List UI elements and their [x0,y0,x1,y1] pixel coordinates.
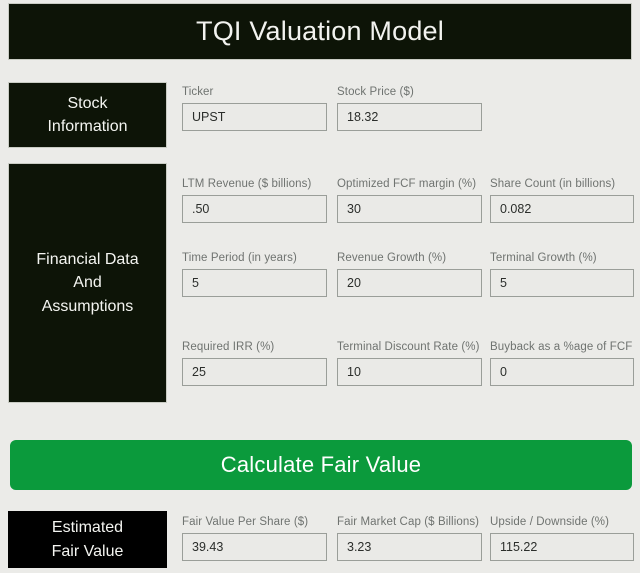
app-title-bar: TQI Valuation Model [8,3,632,60]
field-fair-value-per-share: Fair Value Per Share ($) [182,516,327,561]
field-time-period: Time Period (in years) [182,252,327,297]
field-optimized-fcf-margin-label: Optimized FCF margin (%) [337,178,482,190]
optimized-fcf-margin-input[interactable] [337,195,482,223]
fair-value-per-share-output[interactable] [182,533,327,561]
upside-downside-output[interactable] [490,533,634,561]
section-header-stock-information: StockInformation [8,82,167,148]
field-optimized-fcf-margin: Optimized FCF margin (%) [337,178,482,223]
field-terminal-growth: Terminal Growth (%) [490,252,634,297]
section-header-estimated-fair-value: EstimatedFair Value [8,511,167,568]
field-fair-market-cap-label: Fair Market Cap ($ Billions) [337,516,482,528]
field-ltm-revenue: LTM Revenue ($ billions) [182,178,327,223]
field-terminal-growth-label: Terminal Growth (%) [490,252,634,264]
section-header-stock-information-label: StockInformation [41,92,133,138]
field-upside-downside: Upside / Downside (%) [490,516,634,561]
field-time-period-label: Time Period (in years) [182,252,327,264]
field-terminal-discount-rate-label: Terminal Discount Rate (%) [337,341,482,353]
field-stock-price-label: Stock Price ($) [337,86,482,98]
field-fair-market-cap: Fair Market Cap ($ Billions) [337,516,482,561]
field-fair-value-per-share-label: Fair Value Per Share ($) [182,516,327,528]
field-terminal-discount-rate: Terminal Discount Rate (%) [337,341,482,386]
required-irr-input[interactable] [182,358,327,386]
section-header-financial-data-label: Financial DataAndAssumptions [30,248,144,318]
field-share-count: Share Count (in billions) [490,178,634,223]
field-ticker: Ticker [182,86,327,131]
terminal-discount-rate-input[interactable] [337,358,482,386]
stock-price-input[interactable] [337,103,482,131]
time-period-input[interactable] [182,269,327,297]
buyback-percentage-input[interactable] [490,358,634,386]
terminal-growth-input[interactable] [490,269,634,297]
field-revenue-growth: Revenue Growth (%) [337,252,482,297]
section-header-financial-data: Financial DataAndAssumptions [8,163,167,403]
calculate-fair-value-button[interactable]: Calculate Fair Value [10,440,632,490]
revenue-growth-input[interactable] [337,269,482,297]
field-ltm-revenue-label: LTM Revenue ($ billions) [182,178,327,190]
ticker-input[interactable] [182,103,327,131]
field-share-count-label: Share Count (in billions) [490,178,634,190]
share-count-input[interactable] [490,195,634,223]
field-revenue-growth-label: Revenue Growth (%) [337,252,482,264]
field-buyback-percentage-label: Buyback as a %age of FCF [490,341,634,353]
field-upside-downside-label: Upside / Downside (%) [490,516,634,528]
section-header-estimated-fair-value-label: EstimatedFair Value [46,516,130,562]
field-stock-price: Stock Price ($) [337,86,482,131]
field-ticker-label: Ticker [182,86,327,98]
page-title: TQI Valuation Model [196,18,444,45]
field-buyback-percentage: Buyback as a %age of FCF [490,341,634,386]
field-required-irr: Required IRR (%) [182,341,327,386]
ltm-revenue-input[interactable] [182,195,327,223]
field-required-irr-label: Required IRR (%) [182,341,327,353]
fair-market-cap-output[interactable] [337,533,482,561]
